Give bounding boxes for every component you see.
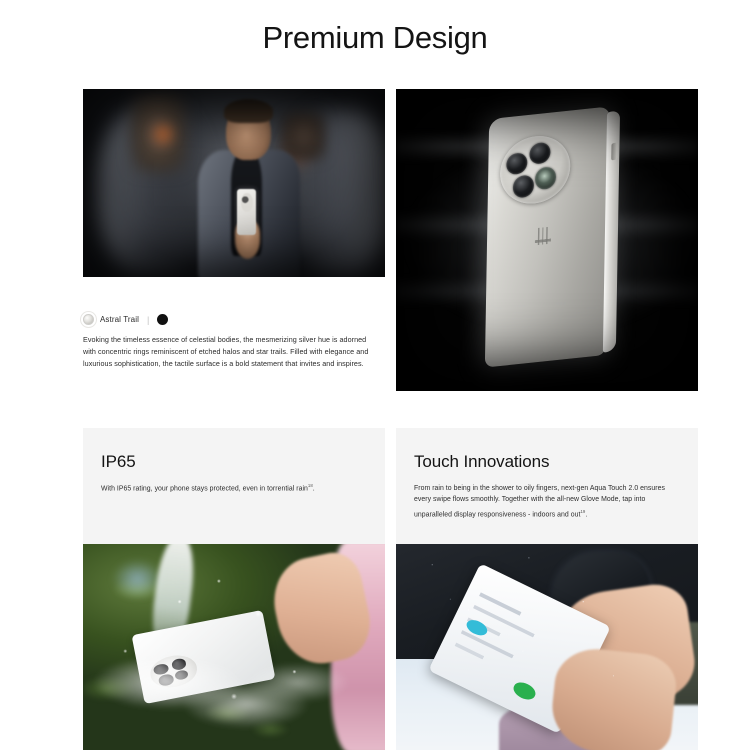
premium-design-page: Premium Design bbox=[0, 0, 750, 750]
feature-body-text: With IP65 rating, your phone stays prote… bbox=[101, 485, 308, 492]
vignette-overlay bbox=[396, 89, 698, 391]
feature-body-text: From rain to being in the shower to oily… bbox=[414, 485, 665, 518]
feature-card-touch-innovations[interactable]: Touch Innovations From rain to being in … bbox=[396, 428, 698, 750]
page-title: Premium Design bbox=[0, 20, 750, 56]
vignette-overlay bbox=[83, 89, 385, 277]
water-droplets bbox=[396, 544, 698, 750]
feature-body-tail: . bbox=[313, 485, 315, 492]
color-swatch-label: Astral Trail bbox=[100, 315, 139, 324]
feature-body-touch-innovations: From rain to being in the shower to oily… bbox=[414, 483, 682, 521]
feature-heading-ip65: IP65 bbox=[101, 452, 136, 472]
feature-body-ip65: With IP65 rating, your phone stays prote… bbox=[101, 480, 369, 495]
color-swatch-astral-trail[interactable] bbox=[83, 314, 94, 325]
feature-card-ip65[interactable]: IP65 With IP65 rating, your phone stays … bbox=[83, 428, 385, 750]
color-swatch-row[interactable]: Astral Trail | bbox=[83, 314, 168, 325]
feature-heading-touch-innovations: Touch Innovations bbox=[414, 452, 549, 472]
lifestyle-image[interactable] bbox=[83, 89, 385, 277]
swatch-divider: | bbox=[145, 315, 151, 325]
color-swatch-black[interactable] bbox=[157, 314, 168, 325]
feature-image-touch-innovations[interactable] bbox=[396, 544, 698, 750]
design-description: Evoking the timeless essence of celestia… bbox=[83, 334, 375, 370]
feature-body-tail: . bbox=[585, 511, 587, 518]
water-droplets bbox=[83, 544, 385, 750]
feature-image-ip65[interactable] bbox=[83, 544, 385, 750]
product-image[interactable] bbox=[396, 89, 698, 391]
